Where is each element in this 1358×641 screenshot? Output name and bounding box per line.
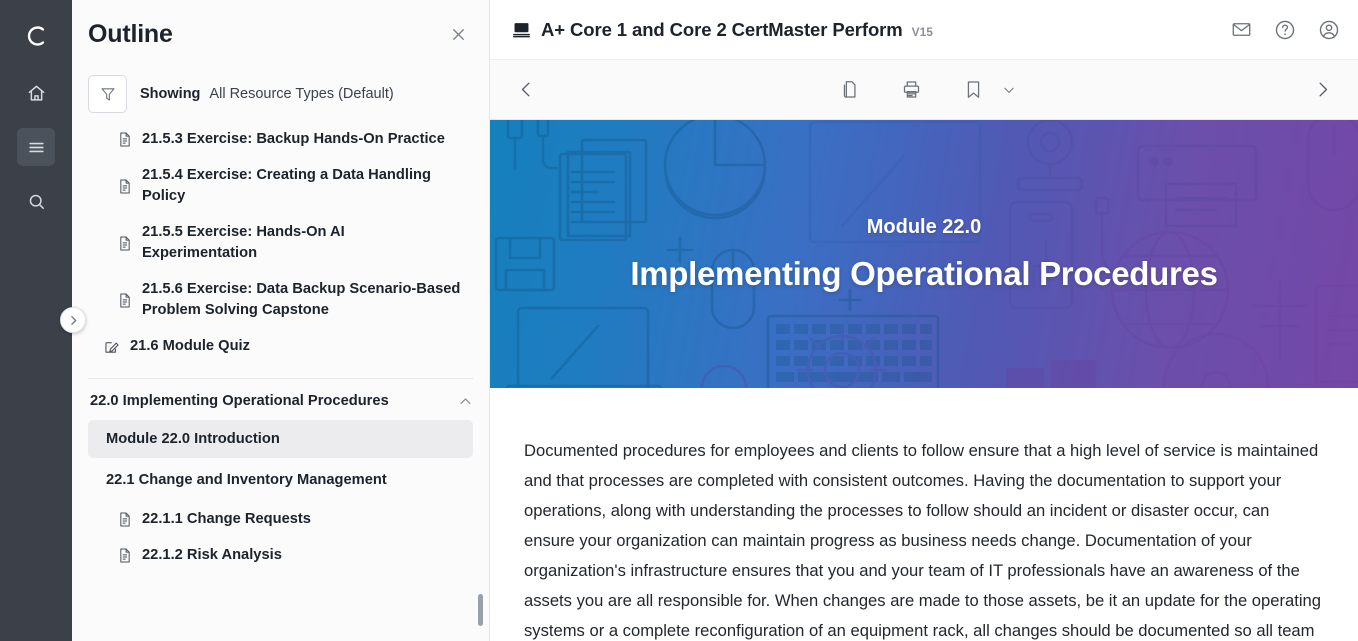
banner-module-label: Module 22.0 [867, 216, 981, 239]
outline-panel: Outline Showing All Resource Types (Defa… [72, 0, 490, 641]
content-toolbar [490, 60, 1358, 120]
quiz-pencil-icon [104, 339, 120, 355]
list-item[interactable]: 21.5.6 Exercise: Data Backup Scenario-Ba… [72, 272, 489, 329]
list-item[interactable]: 21.6 Module Quiz [72, 329, 489, 365]
outline-section-label: 22.0 Implementing Operational Procedures [90, 393, 458, 409]
filter-selected-value[interactable]: All Resource Types (Default) [209, 86, 393, 102]
chevron-down-icon[interactable] [1002, 83, 1016, 97]
bookmark-icon[interactable] [956, 73, 990, 107]
list-item-label: 21.6 Module Quiz [130, 336, 250, 358]
list-item[interactable]: 21.5.4 Exercise: Creating a Data Handlin… [72, 158, 489, 215]
header-actions [1231, 19, 1340, 41]
document-icon [118, 512, 132, 527]
chevron-up-icon[interactable] [458, 394, 473, 409]
user-account-icon[interactable] [1318, 19, 1340, 41]
panel-collapse-handle[interactable] [60, 307, 86, 333]
list-item[interactable]: 21.5.3 Exercise: Backup Hands-On Practic… [72, 122, 489, 158]
filter-row: Showing All Resource Types (Default) [72, 68, 489, 120]
document-icon [118, 293, 132, 308]
document-icon [118, 132, 132, 147]
list-item-label: 21.5.3 Exercise: Backup Hands-On Practic… [142, 129, 445, 151]
home-icon[interactable] [17, 74, 55, 112]
list-item-selected[interactable]: Module 22.0 Introduction [88, 420, 473, 458]
banner-text: Module 22.0 Implementing Operational Pro… [490, 120, 1358, 388]
search-icon[interactable] [17, 182, 55, 220]
filter-funnel-icon[interactable] [88, 75, 127, 113]
mail-icon[interactable] [1231, 19, 1252, 40]
document-icon [118, 548, 132, 563]
module-banner: Module 22.0 Implementing Operational Pro… [490, 120, 1358, 388]
banner-heading: Implementing Operational Procedures [630, 255, 1217, 293]
help-circle-icon[interactable] [1274, 19, 1296, 41]
list-item-label: 21.5.5 Exercise: Hands-On AI Experimenta… [142, 222, 461, 265]
lesson-body: Documented procedures for employees and … [490, 388, 1358, 641]
print-icon[interactable] [894, 73, 928, 107]
document-icon [118, 236, 132, 251]
list-item-label: 21.5.6 Exercise: Data Backup Scenario-Ba… [142, 279, 461, 322]
lesson-paragraph: Documented procedures for employees and … [524, 436, 1324, 641]
chevron-left-icon[interactable] [506, 70, 546, 110]
app-logo[interactable] [14, 14, 58, 58]
list-item[interactable]: 22.1.1 Change Requests [72, 502, 489, 538]
list-item[interactable]: 22.1 Change and Inventory Management [88, 461, 473, 499]
chevron-right-icon[interactable] [1302, 70, 1342, 110]
filter-showing-label: Showing [140, 86, 200, 102]
outline-section-header[interactable]: 22.0 Implementing Operational Procedures [72, 385, 489, 417]
list-item[interactable]: 21.5.5 Exercise: Hands-On AI Experimenta… [72, 215, 489, 272]
course-version-badge: V15 [912, 25, 933, 39]
outline-scrollbar[interactable] [478, 126, 483, 641]
outline-menu-icon[interactable] [17, 128, 55, 166]
main-content: A+ Core 1 and Core 2 CertMaster Perform … [490, 0, 1358, 641]
toolbar-actions [546, 73, 1302, 107]
list-item-label: 22.1.2 Risk Analysis [142, 545, 282, 567]
page-title: Outline [88, 20, 443, 49]
close-icon[interactable] [443, 19, 473, 49]
list-item-label: 21.5.4 Exercise: Creating a Data Handlin… [142, 165, 461, 208]
scrollbar-thumb[interactable] [478, 594, 483, 626]
document-icon [118, 179, 132, 194]
app-root: Outline Showing All Resource Types (Defa… [0, 0, 1358, 641]
list-item-label: 22.1.1 Change Requests [142, 509, 311, 531]
course-title: A+ Core 1 and Core 2 CertMaster Perform [541, 19, 903, 41]
section-divider [88, 378, 473, 379]
copy-icon[interactable] [832, 73, 866, 107]
book-icon [512, 20, 531, 39]
course-header: A+ Core 1 and Core 2 CertMaster Perform … [490, 0, 1358, 60]
list-item[interactable]: 22.1.2 Risk Analysis [72, 538, 489, 574]
outline-list: 21.5.3 Exercise: Backup Hands-On Practic… [72, 120, 489, 641]
outline-header: Outline [72, 0, 489, 68]
